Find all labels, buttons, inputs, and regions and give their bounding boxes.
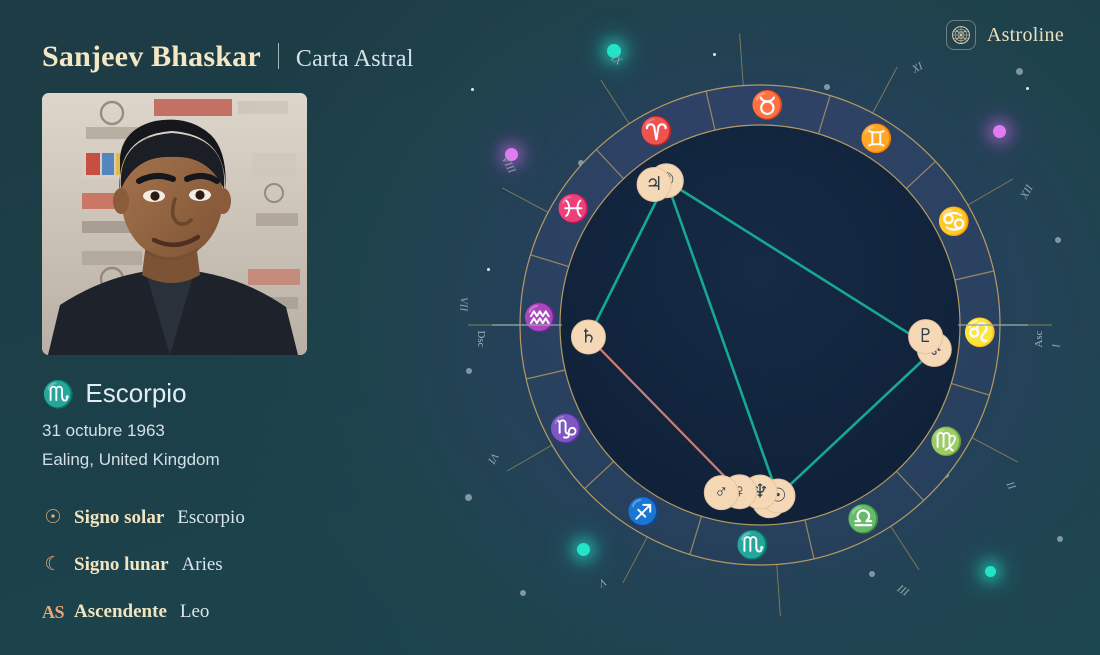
zodiac-glyph-scorpio: ♏ <box>736 529 770 560</box>
portrait-photo <box>42 93 307 355</box>
house-cusp-line <box>871 67 897 116</box>
natal-chart-wheel: ♈♉♊♋♌♍♎♏♐♑♒♓ ☽♃♄♅♇☿☉♆♀♂ IIIIIIIVVVIVIIVI… <box>460 25 1060 625</box>
page-title: Sanjeev Bhaskar Carta Astral <box>42 40 414 74</box>
zodiac-glyph-pisces: ♓ <box>557 192 591 223</box>
scorpio-icon: ♏ <box>42 381 74 407</box>
house-cusp-line <box>968 436 1017 462</box>
house-numeral-V: V <box>596 575 609 589</box>
house-numeral-X: X <box>755 25 765 28</box>
person-name: Sanjeev Bhaskar <box>42 40 261 74</box>
house-numeral-I: I <box>1050 343 1060 349</box>
house-cusp-line <box>601 80 631 127</box>
fact-label: Signo lunar <box>74 554 169 576</box>
house-cusp-line <box>964 179 1012 207</box>
fact-row-sun: ☉ Signo solar Escorpio <box>42 494 245 541</box>
fact-value: Aries <box>182 554 223 576</box>
zodiac-glyph-sagittarius: ♐ <box>627 496 661 527</box>
fact-label: Signo solar <box>74 507 164 529</box>
birth-date: 31 octubre 1963 <box>42 416 220 445</box>
house-numeral-IV: IV <box>753 622 766 625</box>
planet-glyph: ♃ <box>646 174 663 195</box>
zodiac-glyph-libra: ♎ <box>846 503 880 534</box>
planet-glyph: ♂ <box>714 482 728 503</box>
planet-pluto[interactable]: ♇ <box>909 320 943 354</box>
fact-row-moon: ☾ Signo lunar Aries <box>42 541 245 588</box>
house-cusp-line <box>623 533 649 582</box>
house-cusp-line <box>889 523 919 570</box>
fact-row-ascendant: AS Ascendente Leo <box>42 588 245 635</box>
house-numeral-II: II <box>1004 478 1019 492</box>
title-divider <box>278 43 279 69</box>
planet-glyph: ♄ <box>580 326 597 347</box>
sun-sign-heading: ♏ Escorpio <box>42 378 187 409</box>
zodiac-glyph-leo: ♌ <box>963 317 997 348</box>
zodiac-glyph-capricorn: ♑ <box>549 412 583 443</box>
house-numeral-XII: XII <box>1018 182 1037 202</box>
house-numeral-VII: VII <box>460 297 470 312</box>
house-cusp-line <box>740 34 744 90</box>
house-numeral-VI: VI <box>485 451 501 467</box>
planet-jupiter[interactable]: ♃ <box>637 167 671 201</box>
sun-icon: ☉ <box>42 508 64 527</box>
birth-place: Ealing, United Kingdom <box>42 445 220 474</box>
house-cusp-line <box>502 188 551 214</box>
house-numeral-VIII: VIII <box>499 154 519 176</box>
page-subtitle: Carta Astral <box>296 46 414 73</box>
inner-disc <box>560 125 960 525</box>
planet-mars[interactable]: ♂ <box>704 476 738 510</box>
zodiac-glyph-taurus: ♉ <box>751 89 785 120</box>
fact-label: Ascendente <box>74 601 167 623</box>
axis-label-Dsc: Dsc <box>475 330 487 347</box>
axis-label-Asc: Asc <box>1033 330 1045 347</box>
zodiac-glyph-aries: ♈ <box>640 115 674 146</box>
house-numeral-XI: XI <box>909 60 926 77</box>
ascendant-icon: AS <box>42 603 64 621</box>
house-numeral-IX: IX <box>608 52 625 69</box>
house-cusp-line <box>776 560 780 616</box>
house-cusp-line <box>507 443 555 471</box>
zodiac-glyph-gemini: ♊ <box>860 122 894 153</box>
planet-saturn[interactable]: ♄ <box>571 320 605 354</box>
zodiac-glyph-aquarius: ♒ <box>523 301 557 332</box>
facts-list: ☉ Signo solar Escorpio ☾ Signo lunar Ari… <box>42 494 245 635</box>
moon-icon: ☾ <box>42 555 64 574</box>
house-numeral-III: III <box>895 581 913 598</box>
zodiac-glyph-cancer: ♋ <box>937 206 971 237</box>
poster-root: Sanjeev Bhaskar Carta Astral Astroli <box>0 0 1100 655</box>
sun-sign-name: Escorpio <box>85 378 186 409</box>
zodiac-glyph-virgo: ♍ <box>930 426 964 457</box>
planet-glyph: ♇ <box>917 326 934 347</box>
fact-value: Leo <box>180 601 210 623</box>
fact-value: Escorpio <box>177 507 245 529</box>
birth-details: 31 octubre 1963 Ealing, United Kingdom <box>42 416 220 474</box>
